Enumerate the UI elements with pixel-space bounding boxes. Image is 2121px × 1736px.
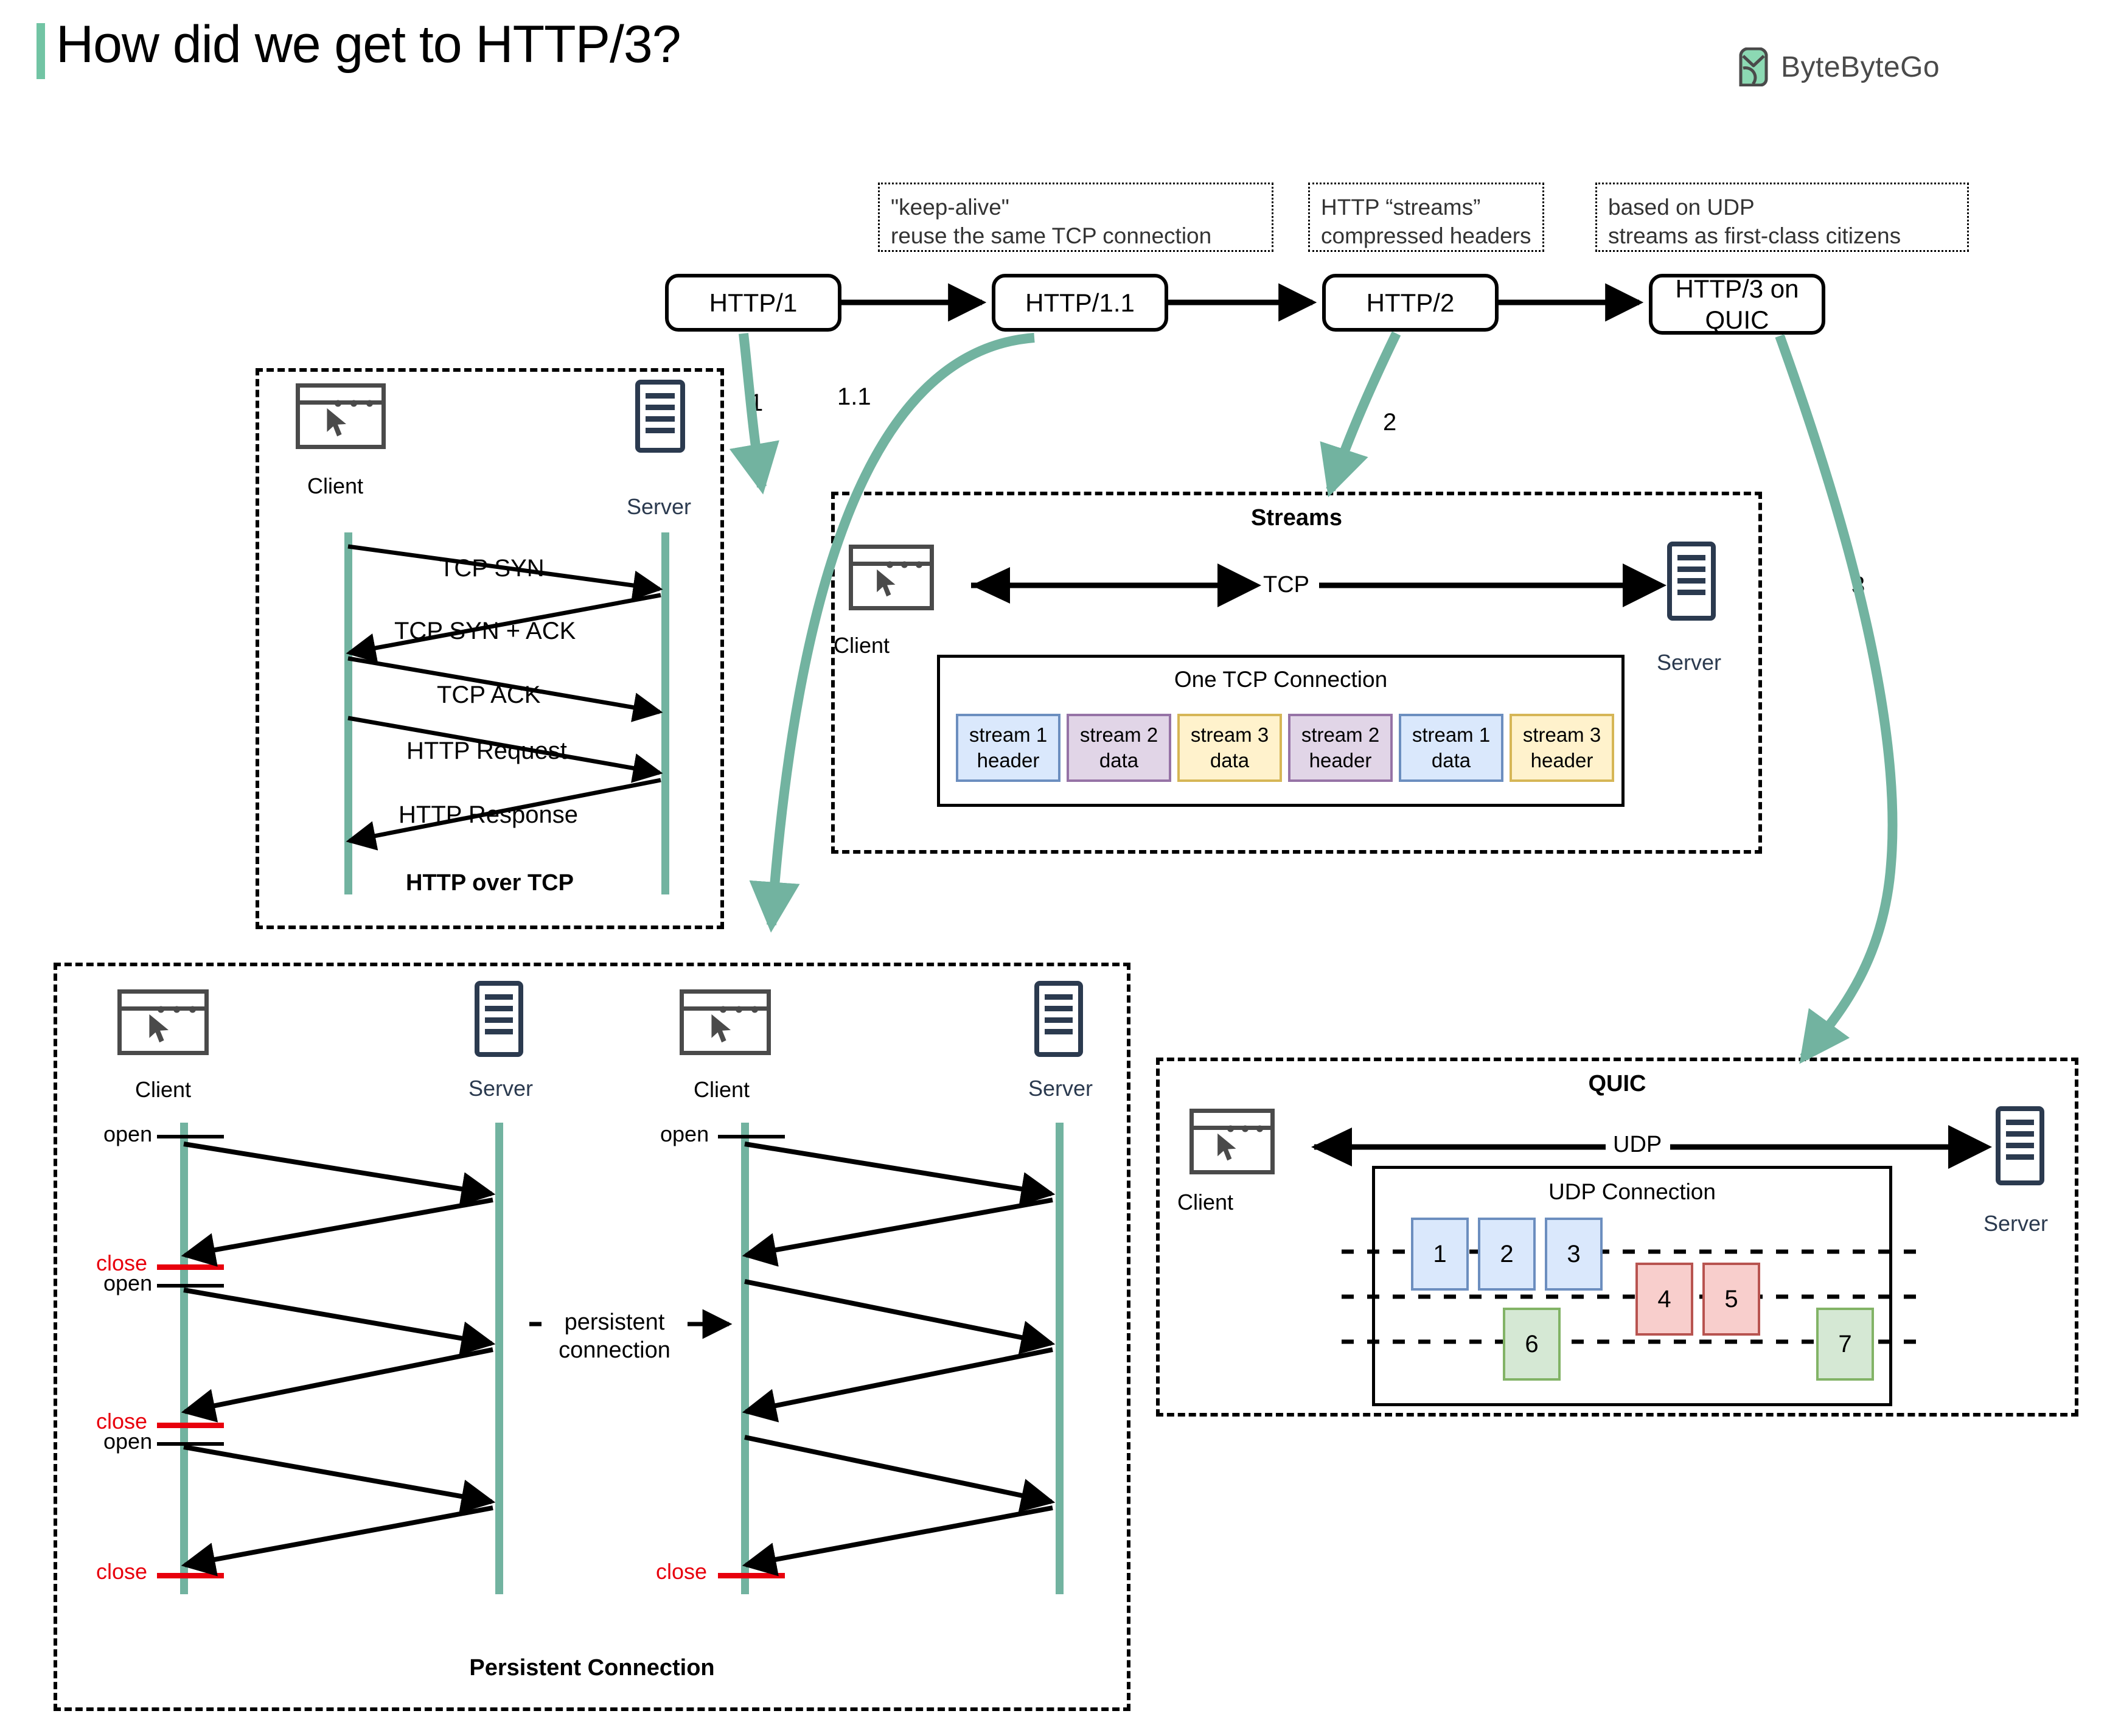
- version-box-http1[interactable]: HTTP/1: [665, 274, 841, 332]
- version-box-http11[interactable]: HTTP/1.1: [992, 274, 1168, 332]
- quic-packet: 3: [1545, 1218, 1603, 1291]
- persistent-note-line1: persistent: [545, 1308, 684, 1336]
- callout-http11: "keep-alive" reuse the same TCP connecti…: [878, 183, 1273, 252]
- client-browser-icon-quic: [1189, 1109, 1275, 1174]
- client-browser-icon-streams: [849, 545, 934, 610]
- stream-cell-line2: header: [1309, 748, 1372, 773]
- stream-cell-line2: data: [1210, 748, 1249, 773]
- page-title: How did we get to HTTP/3?: [56, 18, 681, 71]
- stream-cell-line2: header: [977, 748, 1040, 773]
- message-label-tcp-ack: TCP ACK: [437, 682, 540, 709]
- label-server-streams: Server: [1657, 650, 1721, 675]
- client-lifeline-persistent-left: [180, 1123, 188, 1594]
- label-server-persistent-right: Server: [1028, 1076, 1093, 1101]
- stream-cell: stream 1data: [1399, 714, 1503, 782]
- server-icon-persistent-right: [1034, 981, 1083, 1057]
- quic-packet-label: 1: [1433, 1241, 1446, 1268]
- callout-http3-line2: streams as first-class citizens: [1608, 221, 1956, 250]
- flow-label-3: 3: [1851, 572, 1865, 599]
- version-box-http2[interactable]: HTTP/2: [1322, 274, 1499, 332]
- label-client-persistent-right: Client: [694, 1077, 750, 1103]
- flow-label-2: 2: [1383, 409, 1396, 436]
- label-client-quic: Client: [1177, 1190, 1233, 1215]
- quic-packet: 1: [1411, 1218, 1469, 1291]
- transport-label-tcp: TCP: [1259, 572, 1313, 598]
- stream-cell-line1: stream 2: [1301, 722, 1379, 748]
- persistent-connection-note: persistent connection: [545, 1308, 684, 1365]
- stream-cell-line1: stream 3: [1191, 722, 1269, 748]
- stream-cell-line2: data: [1099, 748, 1138, 773]
- callout-http3: based on UDP streams as first-class citi…: [1595, 183, 1969, 252]
- title-accent-bar: [37, 23, 45, 79]
- persistent-note-line2: connection: [545, 1336, 684, 1364]
- label-server-tcp: Server: [627, 494, 691, 520]
- event-open-right: open: [660, 1121, 709, 1147]
- callout-http2-line1: HTTP “streams”: [1321, 193, 1531, 221]
- callout-http3-line1: based on UDP: [1608, 193, 1956, 221]
- client-browser-icon: [296, 383, 386, 449]
- callout-http2: HTTP “streams” compressed headers: [1308, 183, 1544, 252]
- server-icon-persistent-left: [475, 981, 523, 1057]
- quic-packet-label: 2: [1500, 1241, 1513, 1268]
- quic-packet: 5: [1702, 1263, 1760, 1336]
- label-client-tcp: Client: [307, 473, 363, 499]
- panel-title-quic: QUIC: [1156, 1071, 2078, 1097]
- panel-title-streams: Streams: [831, 505, 1762, 531]
- quic-packet-label: 7: [1838, 1331, 1851, 1358]
- stream-cell: stream 2header: [1288, 714, 1393, 782]
- stream-cell-line2: data: [1432, 748, 1471, 773]
- stream-cell: stream 1header: [956, 714, 1060, 782]
- stream-cell-line2: header: [1531, 748, 1593, 773]
- event-open-3: open: [103, 1429, 152, 1454]
- label-server-persistent-left: Server: [468, 1076, 533, 1101]
- client-lifeline-persistent-right: [741, 1123, 749, 1594]
- event-open-2: open: [103, 1271, 152, 1296]
- message-label-http-response: HTTP Response: [399, 801, 578, 829]
- server-lifeline-persistent-left: [495, 1123, 503, 1594]
- quic-packet: 7: [1816, 1308, 1874, 1381]
- stream-cell-line1: stream 2: [1080, 722, 1158, 748]
- message-label-http-request: HTTP Request: [406, 737, 567, 765]
- brand-logo: ByteByteGo: [1737, 47, 1940, 86]
- stream-cell: stream 2data: [1067, 714, 1171, 782]
- callout-http11-line1: "keep-alive": [891, 193, 1261, 221]
- quic-packet: 2: [1478, 1218, 1536, 1291]
- server-lifeline-tcp: [661, 532, 669, 894]
- stream-cell-line1: stream 1: [969, 722, 1047, 748]
- quic-packet-label: 5: [1724, 1286, 1738, 1313]
- quic-packet-label: 3: [1567, 1241, 1580, 1268]
- quic-packet-label: 6: [1525, 1331, 1538, 1358]
- flow-label-1-1: 1.1: [837, 383, 871, 411]
- callout-http11-line2: reuse the same TCP connection: [891, 221, 1261, 250]
- label-client-streams: Client: [834, 633, 890, 658]
- quic-packet: 6: [1503, 1308, 1561, 1381]
- server-icon-streams: [1667, 542, 1716, 621]
- stream-cell: stream 3header: [1510, 714, 1614, 782]
- client-browser-icon-persistent-left: [117, 989, 209, 1055]
- message-label-tcp-syn-ack: TCP SYN + ACK: [394, 618, 576, 645]
- event-close-3: close: [96, 1559, 147, 1584]
- version-box-http3[interactable]: HTTP/3 on QUIC: [1649, 274, 1825, 335]
- stream-cell: stream 3data: [1177, 714, 1282, 782]
- server-icon-quic: [1996, 1106, 2044, 1185]
- callout-http2-line2: compressed headers: [1321, 221, 1531, 250]
- panel-title-http-over-tcp: HTTP over TCP: [256, 870, 724, 896]
- one-tcp-connection-title: One TCP Connection: [937, 667, 1625, 692]
- stream-cell-line1: stream 3: [1523, 722, 1601, 748]
- quic-packet: 4: [1635, 1263, 1693, 1336]
- label-client-persistent-left: Client: [135, 1077, 191, 1103]
- panel-title-persistent-connection: Persistent Connection: [54, 1655, 1130, 1681]
- event-close-right: close: [656, 1559, 707, 1584]
- flow-label-1: 1: [750, 389, 763, 417]
- client-lifeline-tcp: [344, 532, 352, 894]
- brand-name: ByteByteGo: [1781, 51, 1940, 84]
- stream-cell-line1: stream 1: [1412, 722, 1490, 748]
- quic-packet-label: 4: [1657, 1286, 1671, 1313]
- server-lifeline-persistent-right: [1056, 1123, 1064, 1594]
- client-browser-icon-persistent-right: [680, 989, 771, 1055]
- label-server-quic: Server: [1983, 1211, 2048, 1236]
- udp-connection-title: UDP Connection: [1372, 1179, 1892, 1205]
- message-label-tcp-syn: TCP SYN: [439, 555, 545, 582]
- event-open-1: open: [103, 1121, 152, 1147]
- server-icon: [635, 380, 685, 453]
- transport-label-udp: UDP: [1609, 1132, 1665, 1158]
- bytebytego-logo-icon: [1737, 47, 1770, 86]
